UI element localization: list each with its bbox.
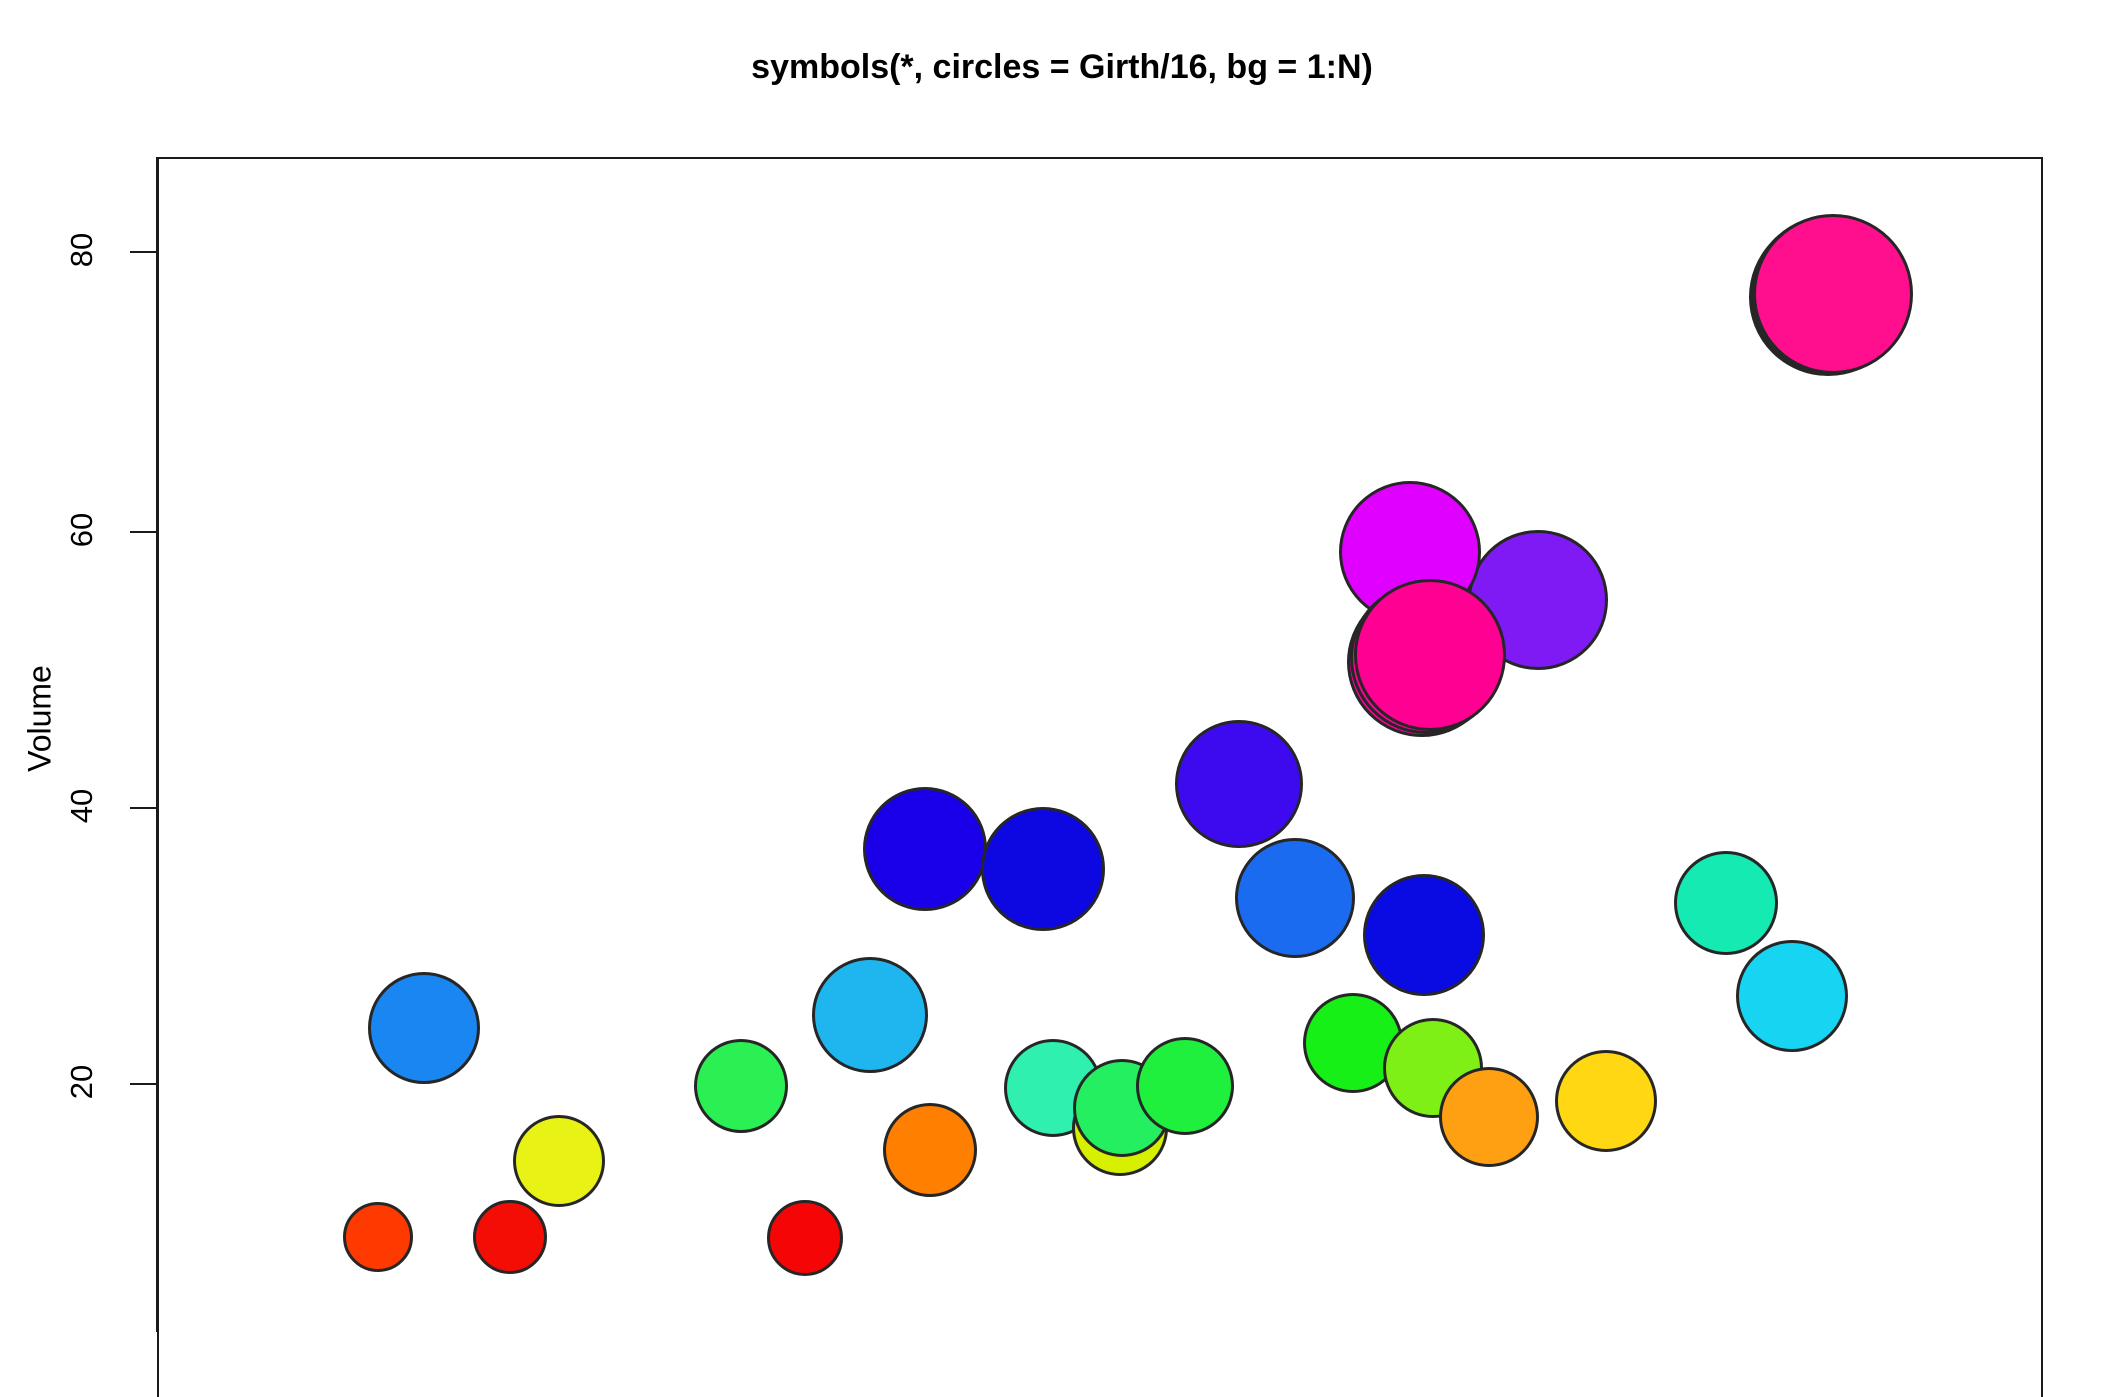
bubble-blue-17	[368, 972, 480, 1084]
bubble-cyan-16	[1736, 940, 1848, 1052]
bubble-turquoise-15	[1674, 851, 1778, 955]
bubble-deep-blue-20	[1363, 874, 1485, 996]
bubble-red-orange-1	[343, 1202, 413, 1272]
bubble-light-blue-18	[812, 957, 928, 1073]
bubble-pink-28	[1354, 579, 1506, 731]
bubble-indigo-23	[1175, 720, 1303, 848]
bubble-green-6	[694, 1039, 788, 1133]
bubble-series-layer	[0, 0, 2124, 1332]
bubble-blue-19	[1235, 838, 1355, 958]
bubble-red-2	[473, 1200, 547, 1274]
bubble-deep-pink-31	[1753, 214, 1913, 374]
bubble-deep-blue-21	[863, 787, 987, 911]
bubble-green-10	[1136, 1037, 1234, 1135]
bubble-gold-14	[1555, 1050, 1657, 1152]
bubble-orange-5	[883, 1103, 977, 1197]
bubble-red-3	[767, 1200, 843, 1276]
bubble-deep-blue-22	[981, 807, 1105, 931]
bubble-orange-13	[1439, 1067, 1539, 1167]
bubble-yellow-4	[513, 1115, 605, 1207]
plot-figure: symbols(*, circles = Girth/16, bg = 1:N)…	[0, 0, 2124, 1332]
